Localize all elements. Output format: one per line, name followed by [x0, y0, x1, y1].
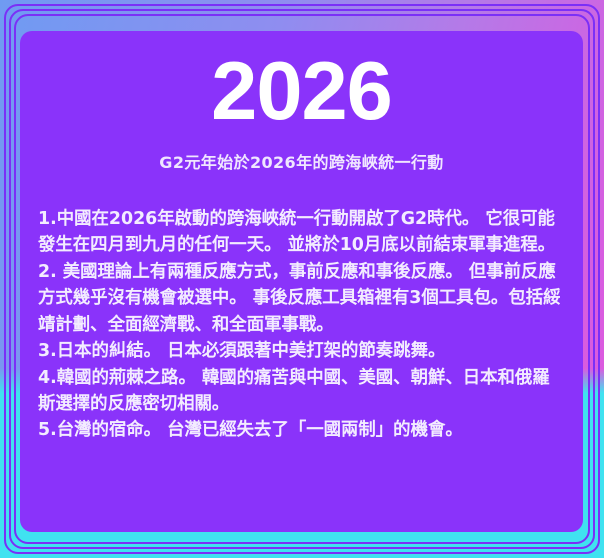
body-paragraph-5: 5.台灣的宿命。 台灣已經失去了「一國兩制」的機會。	[38, 417, 566, 443]
body-paragraph-2: 2. 美國理論上有兩種反應方式，事前反應和事後反應。 但事前反應方式幾乎沒有機會…	[38, 259, 566, 338]
headline-year: 2026	[20, 31, 583, 131]
poster-canvas: 2026 G2元年始於2026年的跨海峽統一行動 1.中國在2026年啟動的跨海…	[0, 0, 604, 558]
content-card: 2026 G2元年始於2026年的跨海峽統一行動 1.中國在2026年啟動的跨海…	[20, 31, 583, 532]
body-paragraph-4: 4.韓國的荊棘之路。 韓國的痛苦與中國、美國、朝鮮、日本和俄羅斯選擇的反應密切相…	[38, 365, 566, 418]
body-text-block: 1.中國在2026年啟動的跨海峽統一行動開啟了G2時代。 它很可能發生在四月到九…	[20, 173, 583, 444]
body-paragraph-3: 3.日本的糾結。 日本必須跟著中美打架的節奏跳舞。	[38, 338, 566, 364]
body-paragraph-1: 1.中國在2026年啟動的跨海峽統一行動開啟了G2時代。 它很可能發生在四月到九…	[38, 206, 566, 259]
subtitle: G2元年始於2026年的跨海峽統一行動	[20, 131, 583, 173]
